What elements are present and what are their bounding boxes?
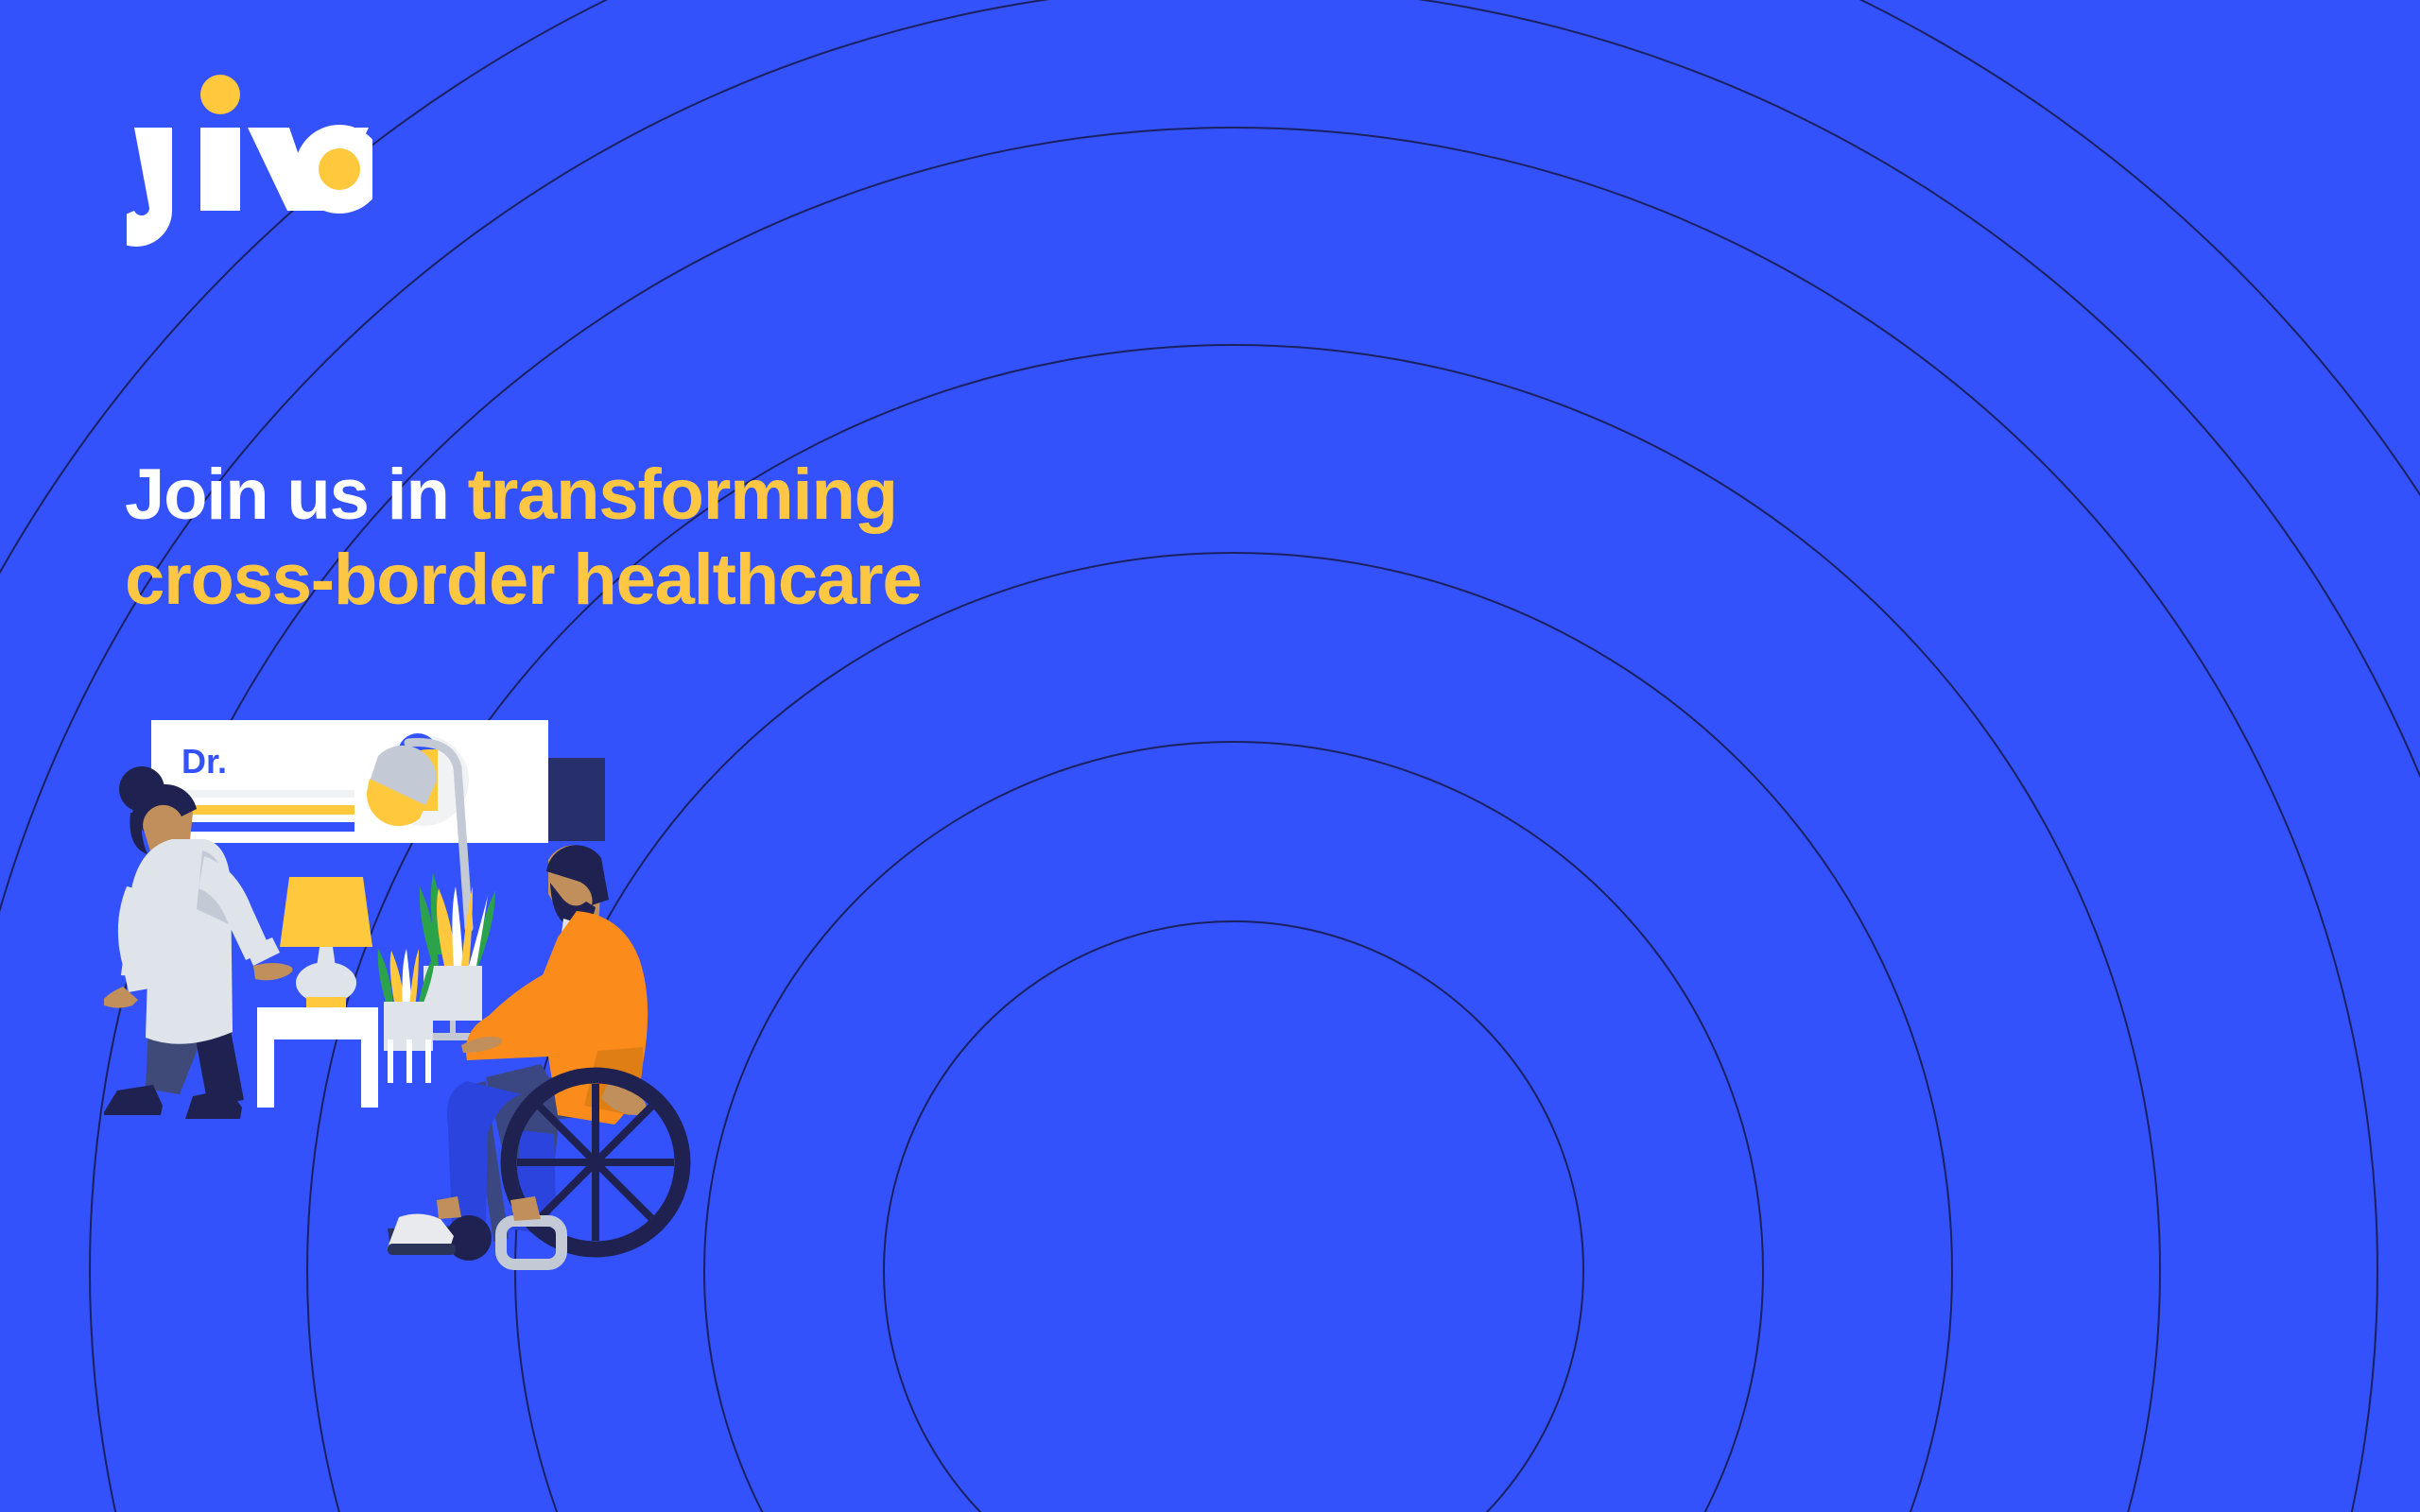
patient-shoe [388,1213,454,1247]
page-title: Join us in transforming cross-border hea… [125,453,1259,622]
headline-line-1-white: Join us in [125,455,468,535]
plant1-leg-right [425,1039,431,1083]
plant1-leaf-yellow-mid [409,949,419,1007]
billboard-line-blue [181,822,354,832]
poster-canvas: Join us in transforming cross-border hea… [0,0,2420,1512]
plant2-leaf-white-left [452,886,463,966]
logo-letter-i [200,128,240,211]
side-table-with-lamp [257,877,378,1108]
cross-border-healthcare-illustration: Dr. [104,699,1049,1304]
plant1-leg-mid [406,1039,412,1083]
logo-letter-j [127,128,172,247]
table-lamp-shade [280,877,372,947]
headline-line-1: Join us in transforming [125,453,1259,538]
patient-shoe-sole [388,1244,456,1255]
table-lamp-collar [306,997,346,1008]
jivo-logo[interactable] [127,74,372,253]
doctor-shoe-back [104,1085,163,1115]
patient-ankle-left [437,1196,461,1219]
side-table-apron [257,1026,378,1039]
logo-o-accent-icon [319,148,360,190]
billboard-line-yellow [181,805,354,815]
headline-line-1-accent: transforming [468,455,897,535]
logo-i-dot-icon [200,75,240,114]
billboard-line-gray [181,790,354,798]
billboard-dr-label: Dr. [181,742,227,781]
headline-line-2: cross-border healthcare [125,538,1259,623]
doctor-hand-front [253,963,293,980]
side-table-top [257,1007,378,1026]
plant1-leg-left [388,1039,393,1083]
